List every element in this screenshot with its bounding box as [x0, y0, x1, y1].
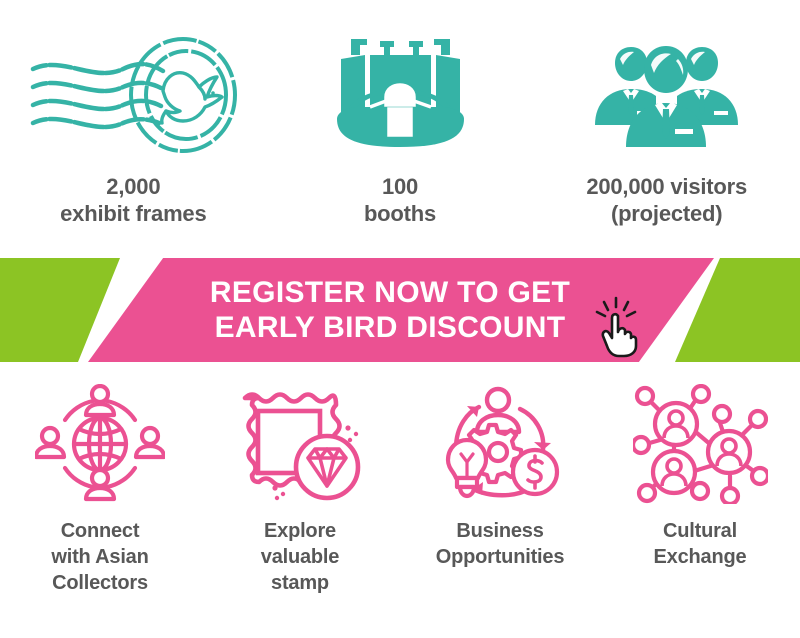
benefit-label-connect: Connect with Asian Collectors: [51, 518, 148, 596]
stat-value: 100: [364, 173, 436, 200]
postmark-dove-stamp-icon: [23, 30, 243, 155]
exhibition-booth-icon: [325, 30, 475, 155]
business-cycle-gear-icon: [435, 384, 565, 504]
stat-item-exhibit-frames: 2,000 exhibit frames: [0, 30, 267, 228]
benefit-label-cultural: Cultural Exchange: [654, 518, 747, 570]
stat-unit: exhibit frames: [60, 200, 206, 227]
benefit-item-connect: Connect with Asian Collectors: [0, 384, 200, 596]
benefit-line2: Exchange: [654, 544, 747, 570]
global-network-people-icon: [35, 384, 165, 504]
benefit-line3: stamp: [261, 570, 339, 596]
benefit-item-explore: Explore valuable stamp: [200, 384, 400, 596]
benefit-label-business: Business Opportunities: [436, 518, 565, 570]
benefit-line1: Business: [436, 518, 565, 544]
cta-banner[interactable]: REGISTER NOW TO GET EARLY BIRD DISCOUNT: [0, 258, 800, 362]
benefit-line2: Opportunities: [436, 544, 565, 570]
stat-label-exhibit-frames: 2,000 exhibit frames: [60, 173, 206, 228]
stat-label-booths: 100 booths: [364, 173, 436, 228]
infographic-page: 2,000 exhibit frames: [0, 0, 800, 638]
stat-value: 2,000: [60, 173, 206, 200]
benefit-line1: Cultural: [654, 518, 747, 544]
stamp-diamond-icon: [235, 384, 365, 504]
banner-text: REGISTER NOW TO GET EARLY BIRD DISCOUNT: [210, 275, 570, 346]
stat-label-visitors: 200,000 visitors (projected): [586, 173, 747, 228]
network-nodes-people-icon: [633, 384, 768, 504]
benefit-line2: with Asian: [51, 544, 148, 570]
click-hand-cursor-icon[interactable]: [592, 296, 644, 358]
banner-text-line2: EARLY BIRD DISCOUNT: [210, 310, 570, 345]
benefit-line2: valuable: [261, 544, 339, 570]
banner-text-line1: REGISTER NOW TO GET: [210, 275, 570, 310]
benefit-line1: Explore: [261, 518, 339, 544]
benefit-item-cultural: Cultural Exchange: [600, 384, 800, 570]
banner-content: REGISTER NOW TO GET EARLY BIRD DISCOUNT: [0, 258, 800, 362]
business-people-group-icon: [579, 30, 754, 155]
benefit-label-explore: Explore valuable stamp: [261, 518, 339, 596]
stats-section: 2,000 exhibit frames: [0, 0, 800, 258]
benefit-line3: Collectors: [51, 570, 148, 596]
stat-unit: booths: [364, 200, 436, 227]
benefit-line1: Connect: [51, 518, 148, 544]
benefits-section: Connect with Asian Collectors: [0, 362, 800, 638]
stat-value: 200,000 visitors: [586, 173, 747, 200]
benefit-item-business: Business Opportunities: [400, 384, 600, 570]
stat-item-visitors: 200,000 visitors (projected): [533, 30, 800, 228]
stat-unit: (projected): [586, 200, 747, 227]
stat-item-booths: 100 booths: [267, 30, 534, 228]
